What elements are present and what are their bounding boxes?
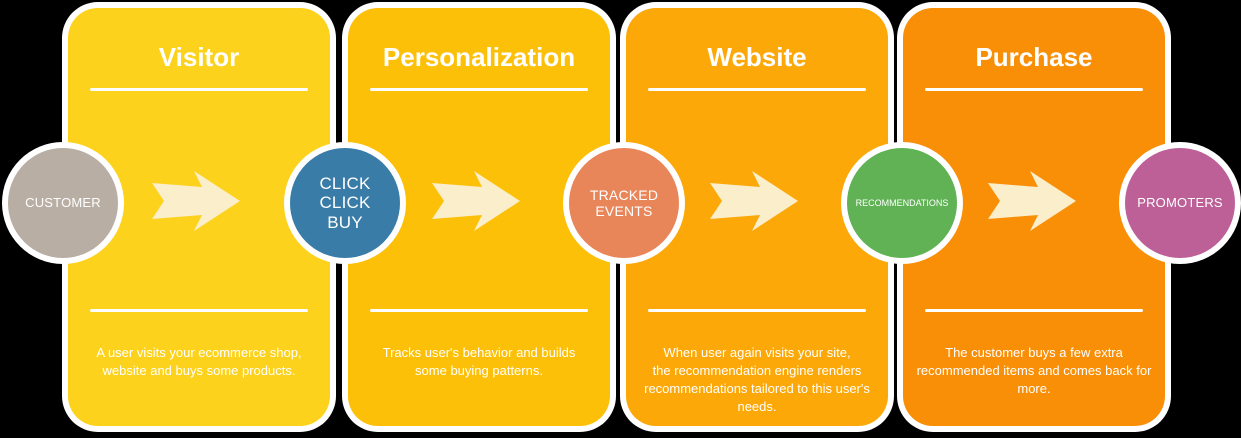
- node-label: RECOMMENDATIONS: [853, 198, 952, 208]
- panel-divider-bottom: [90, 309, 308, 312]
- node-promoters[interactable]: PROMOTERS: [1125, 148, 1235, 258]
- node-label: TRACKED EVENTS: [587, 187, 661, 219]
- panel-divider-top: [925, 88, 1143, 91]
- node-label: PROMOTERS: [1134, 196, 1226, 211]
- infographic-canvas: Visitor A user visits your ecommerce sho…: [0, 0, 1241, 438]
- panel-divider-bottom: [925, 309, 1143, 312]
- panel-divider-top: [370, 88, 588, 91]
- node-customer[interactable]: CUSTOMER: [8, 148, 118, 258]
- panel-description: Tracks user's behavior and builds some b…: [360, 344, 598, 380]
- node-label: CLICK CLICK BUY: [316, 174, 373, 233]
- panel-divider-bottom: [648, 309, 866, 312]
- panel-divider-top: [648, 88, 866, 91]
- node-label: CUSTOMER: [22, 196, 104, 211]
- panel-title: Website: [626, 41, 888, 73]
- right-arrow-icon: [710, 170, 798, 232]
- panel-description: When user again visits your site, the re…: [638, 344, 876, 416]
- panel-title: Purchase: [903, 41, 1165, 73]
- panel-description: The customer buys a few extra recommende…: [915, 344, 1153, 398]
- right-arrow-icon: [432, 170, 520, 232]
- right-arrow-icon: [988, 170, 1076, 232]
- panel-title: Personalization: [348, 41, 610, 73]
- right-arrow-icon: [152, 170, 240, 232]
- panel-divider-top: [90, 88, 308, 91]
- panel-divider-bottom: [370, 309, 588, 312]
- panel-title: Visitor: [68, 41, 330, 73]
- node-recommendations[interactable]: RECOMMENDATIONS: [847, 148, 957, 258]
- node-click-click-buy[interactable]: CLICK CLICK BUY: [290, 148, 400, 258]
- panel-description: A user visits your ecommerce shop, websi…: [80, 344, 318, 380]
- node-tracked-events[interactable]: TRACKED EVENTS: [569, 148, 679, 258]
